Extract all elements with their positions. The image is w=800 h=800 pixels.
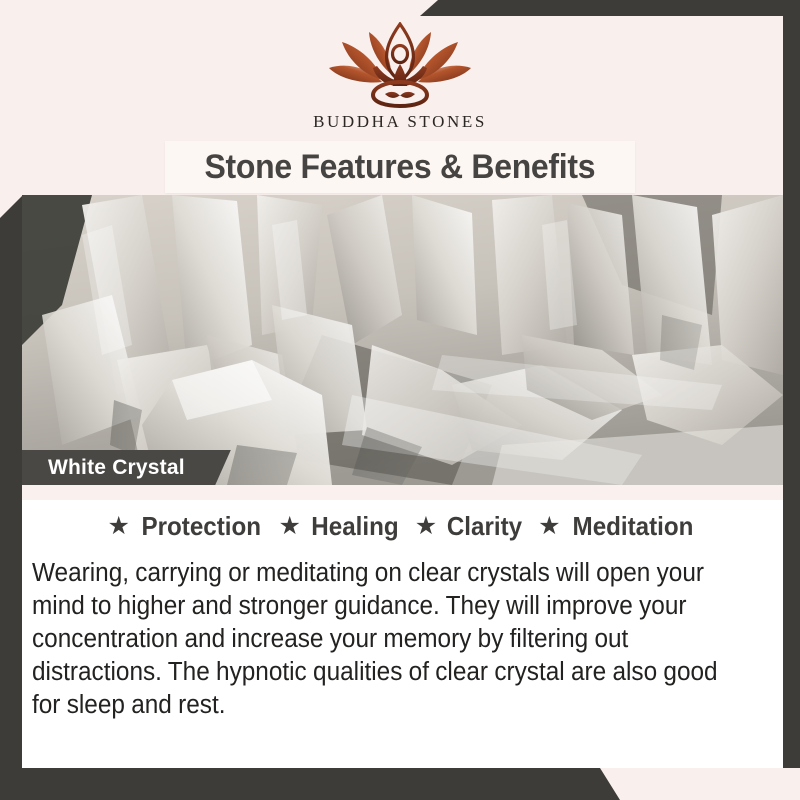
- brand-name: BUDDHA STONES: [313, 112, 487, 132]
- star-icon: ★: [538, 514, 560, 539]
- star-icon: ★: [278, 514, 300, 539]
- panel-top-strip: [22, 485, 783, 500]
- benefit-label: Clarity: [447, 511, 522, 542]
- content-panel: ★ Protection ★ Healing ★ Clarity ★ Medit…: [22, 485, 783, 768]
- decor-bottom-bar: [0, 768, 800, 800]
- benefit-item-protection: ★ Protection: [107, 511, 265, 542]
- benefit-item-clarity: ★ Clarity: [415, 511, 525, 542]
- star-icon: ★: [107, 514, 129, 539]
- brand-header: BUDDHA STONES: [0, 0, 800, 140]
- hero-image: [22, 195, 783, 485]
- page-title: Stone Features & Benefits: [205, 148, 596, 187]
- benefit-label: Meditation: [572, 511, 693, 542]
- benefit-item-meditation: ★ Meditation: [538, 511, 697, 542]
- decor-left-bar: [0, 196, 22, 768]
- star-icon: ★: [415, 514, 437, 539]
- stone-benefits-poster: BUDDHA STONES Stone Features & Benefits: [0, 0, 800, 800]
- benefit-label: Protection: [141, 511, 261, 542]
- benefit-label: Healing: [311, 511, 398, 542]
- stone-name-tag: White Crystal: [22, 450, 231, 486]
- lotus-meditation-logo-icon: [325, 22, 475, 108]
- benefit-item-healing: ★ Healing: [278, 511, 401, 542]
- title-banner: Stone Features & Benefits: [165, 141, 635, 193]
- stone-name-label: White Crystal: [48, 456, 185, 480]
- benefits-row: ★ Protection ★ Healing ★ Clarity ★ Medit…: [22, 511, 783, 542]
- stone-description: Wearing, carrying or meditating on clear…: [32, 557, 743, 722]
